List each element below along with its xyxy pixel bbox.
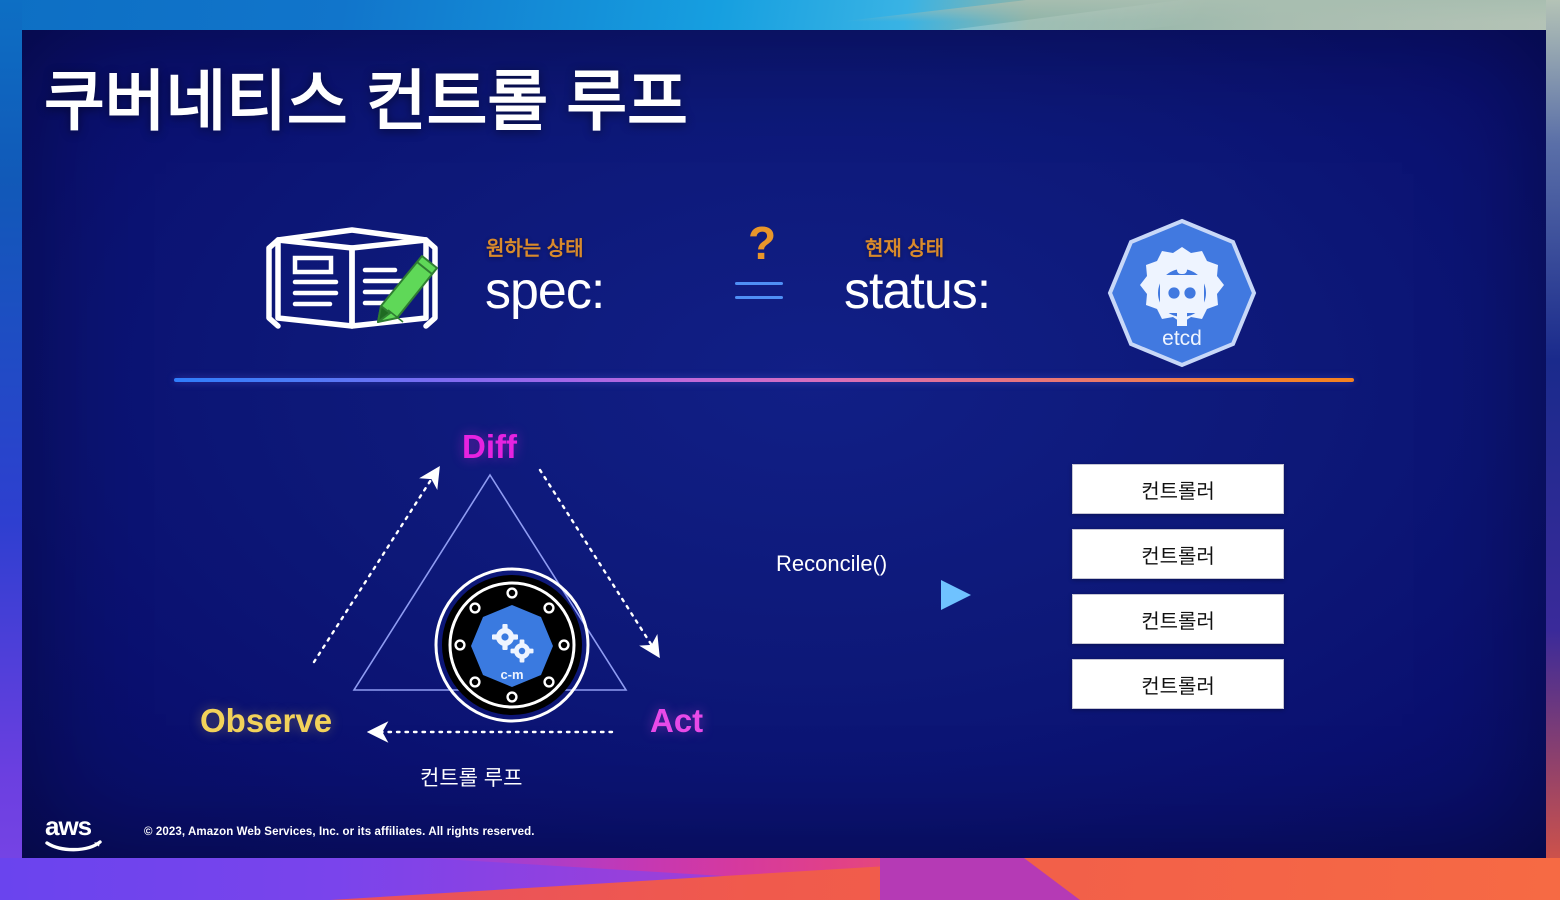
observe-label: Observe [200,702,332,740]
presentation-slide: 쿠버네티스 컨트롤 루프 [0,0,1560,900]
control-loop-caption: 컨트롤 루프 [420,762,522,792]
reconcile-label: Reconcile() [776,551,887,577]
controller-box[interactable]: 컨트롤러 [1072,659,1284,709]
kubernetes-controller-manager-icon: c-m [432,565,592,730]
controller-list: 컨트롤러 컨트롤러 컨트롤러 컨트롤러 [1072,464,1284,709]
copyright-text: © 2023, Amazon Web Services, Inc. or its… [144,826,535,838]
slide-canvas: 쿠버네티스 컨트롤 루프 [22,30,1546,858]
control-loop-diagram: Diff Observe Act 컨트롤 루프 [22,30,1546,858]
decorative-left-edge [0,0,22,900]
decorative-right-edge [1546,0,1560,900]
cm-caption: c-m [500,667,523,682]
controller-box[interactable]: 컨트롤러 [1072,594,1284,644]
controller-box[interactable]: 컨트롤러 [1072,529,1284,579]
controller-box[interactable]: 컨트롤러 [1072,464,1284,514]
aws-logo: aws [44,812,108,858]
act-label: Act [650,702,703,740]
svg-text:aws: aws [45,812,92,841]
diff-label: Diff [462,428,517,466]
